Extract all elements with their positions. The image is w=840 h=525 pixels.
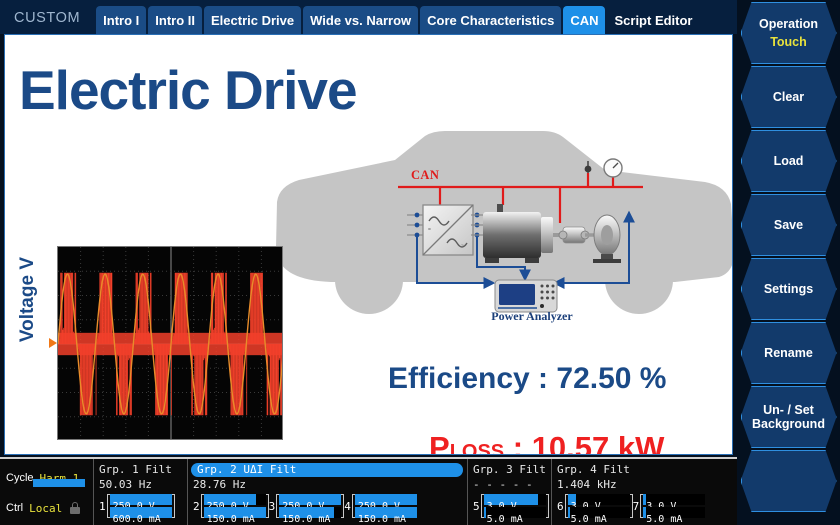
sidebar-button-rename[interactable]: Rename [741,322,837,384]
custom-page-canvas: Electric Drive [4,34,733,455]
function-key-sidebar: Operation Touch Clear Load Save Settings… [737,0,840,525]
channel-2-number: 2 [193,500,201,513]
group-3-frequency: - - - - - [473,478,547,493]
status-cycle-key: Cycle [6,472,34,484]
channel-7-current-value: 5.0 mA [643,514,682,525]
group-1-frequency: 50.03 Hz [99,478,183,493]
scope-caption: VFD Output [57,453,283,455]
status-cycle-ctrl-section: Cycle Harm 1 Ctrl Local [0,459,94,525]
channel-6-voltage-bar: 3.0 V [568,494,630,505]
channel-1-bracket-right [172,494,175,518]
sidebar-button-load-label: Load [774,154,804,168]
application-window: CUSTOM Intro I Intro II Electric Drive W… [0,0,840,525]
sidebar-button-set-background[interactable]: Un- / Set Background [741,386,837,448]
status-ctrl-key: Ctrl [6,502,23,514]
channel-7-number: 7 [633,500,641,513]
tab-core-characteristics[interactable]: Core Characteristics [420,6,561,34]
group-3-header: Grp. 3 Filt [473,463,547,477]
status-group-2-section[interactable]: Grp. 2 UΔI Filt 28.76 Hz 2 250.0 V 150.0… [188,459,468,525]
sidebar-button-save[interactable]: Save [741,194,837,256]
channel-3-bars: 250.0 V 150.0 mA [279,494,341,518]
channel-2-voltage-bar: 250.0 V [204,494,266,505]
scope-display[interactable] [57,246,283,440]
status-ctrl-row[interactable]: Ctrl Local [6,495,89,521]
sidebar-button-settings-label: Settings [764,282,813,296]
channel-7-bars: 3.0 V 5.0 mA [643,494,705,518]
ploss-subscript: LOSS [450,441,504,455]
sidebar-button-operation-value: Touch [770,35,807,49]
group-4-frequency: 1.404 kHz [557,478,718,493]
group-4-header: Grp. 4 Filt [557,463,718,477]
trigger-level-marker [49,338,57,348]
status-ctrl-value: Local [29,502,62,515]
tab-bar: CUSTOM Intro I Intro II Electric Drive W… [0,0,737,34]
channel-1-current-bar: 600.0 mA [110,507,172,518]
channel-4-voltage-bar: 250.0 V [355,494,417,505]
channel-5-current-value: 5.0 mA [484,514,523,525]
channel-7-current-bar: 5.0 mA [643,507,705,518]
group-1-channels: 1 250.0 V 600.0 mA [99,494,183,518]
channel-7-voltage-bar: 3.0 V [643,494,705,505]
sidebar-button-clear[interactable]: Clear [741,66,837,128]
sidebar-button-settings[interactable]: Settings [741,258,837,320]
vfd-output-waveform [58,247,283,440]
lock-icon [70,502,80,514]
channel-1-current-value: 600.0 mA [110,514,161,525]
sidebar-button-save-label: Save [774,218,803,232]
sidebar-button-load[interactable]: Load [741,130,837,192]
shaft-coupling-icon [559,227,597,243]
power-loss-readout: PLOSS : 10.57 kW [429,432,664,455]
group-2-frequency: 28.76 Hz [193,478,463,493]
channel-5-number: 5 [473,500,481,513]
channel-5-current-bar: 5.0 mA [484,507,546,518]
status-group-3-section[interactable]: Grp. 3 Filt - - - - - 5 3.0 V 5.0 mA [468,459,552,525]
status-group-1-section[interactable]: Grp. 1 Filt 50.03 Hz 1 250.0 V 600.0 mA [94,459,188,525]
tab-intro-ii[interactable]: Intro II [148,6,202,34]
group-1-header: Grp. 1 Filt [99,463,183,477]
tab-wide-vs-narrow[interactable]: Wide vs. Narrow [303,6,418,34]
channel-5-voltage-bar: 3.0 V [484,494,546,505]
status-cycle-row[interactable]: Cycle Harm 1 [6,465,89,491]
channel-1-bars: 250.0 V 600.0 mA [110,494,172,518]
ploss-symbol: P [429,430,450,455]
ploss-value: : 10.57 kW [504,430,664,455]
channel-4[interactable]: 4 250.0 V 150.0 mA [344,494,417,518]
inverter-block: = ~ [423,205,473,255]
channel-7[interactable]: 7 3.0 V 5.0 mA [633,494,706,518]
channel-3-current-bar: 150.0 mA [279,507,341,518]
status-cycle-bar [33,479,85,487]
electric-motor-icon [483,204,571,263]
channel-3-voltage-bar: 250.0 V [279,494,341,505]
channel-6-current-value: 5.0 mA [568,514,607,525]
channel-4-current-value: 150.0 mA [355,514,406,525]
tab-script-editor[interactable]: Script Editor [607,6,699,34]
channel-2-bars: 250.0 V 150.0 mA [204,494,266,518]
tab-electric-drive[interactable]: Electric Drive [204,6,301,34]
inverter-input-terminals [407,213,423,238]
channel-2-current-bar: 150.0 mA [204,507,266,518]
channel-3-number: 3 [269,500,277,513]
power-analyzer-label: Power Analyzer [484,309,580,324]
gauge-icon [604,159,622,177]
channel-6-number: 6 [557,500,565,513]
group-3-channels: 5 3.0 V 5.0 mA [473,494,547,518]
sidebar-button-operation[interactable]: Operation Touch [741,2,837,64]
custom-menu-label: CUSTOM [8,10,94,34]
channel-4-number: 4 [344,500,352,513]
temperature-sensor-icon [585,161,592,173]
power-analyzer-icon [495,280,557,312]
status-bar: Cycle Harm 1 Ctrl Local Grp. 1 Filt 50.0… [0,457,737,525]
scope-y-axis-label: Voltage V [17,257,45,342]
channel-6-bars: 3.0 V 5.0 mA [568,494,630,518]
channel-5-bracket-right [546,494,549,518]
tab-can[interactable]: CAN [563,6,605,34]
tab-intro-i[interactable]: Intro I [96,6,146,34]
efficiency-readout: Efficiency : 72.50 % [388,362,666,396]
svg-text:~: ~ [461,243,464,249]
channel-1-number: 1 [99,500,107,513]
group-2-channels: 2 250.0 V 150.0 mA 3 250.0 V 150.0 mA [193,494,463,518]
status-group-4-section[interactable]: Grp. 4 Filt 1.404 kHz 6 3.0 V 5.0 mA 7 [552,459,722,525]
can-bus-label: CAN [411,168,439,183]
channel-6[interactable]: 6 3.0 V 5.0 mA [557,494,633,518]
channel-4-bars: 250.0 V 150.0 mA [355,494,417,518]
group-2-header: Grp. 2 UΔI Filt [191,463,463,477]
page-title: Electric Drive [19,63,357,118]
channel-6-current-bar: 5.0 mA [568,507,630,518]
channel-2-current-value: 150.0 mA [204,514,255,525]
channel-5[interactable]: 5 3.0 V 5.0 mA [473,494,549,518]
sidebar-button-rename-label: Rename [764,346,813,360]
svg-text:=: = [428,227,431,233]
channel-3-current-value: 150.0 mA [279,514,330,525]
sidebar-button-set-background-label: Un- / Set Background [742,403,836,432]
channel-2[interactable]: 2 250.0 V 150.0 mA [193,494,269,518]
sidebar-button-empty[interactable] [741,450,837,512]
channel-5-bars: 3.0 V 5.0 mA [484,494,546,518]
group-4-channels: 6 3.0 V 5.0 mA 7 3.0 V 5.0 mA [557,494,718,518]
channel-4-current-bar: 150.0 mA [355,507,417,518]
channel-3[interactable]: 3 250.0 V 150.0 mA [269,494,345,518]
channel-1[interactable]: 1 250.0 V 600.0 mA [99,494,175,518]
dynamometer-icon [593,215,621,263]
sidebar-button-operation-label: Operation [759,17,818,31]
sidebar-button-clear-label: Clear [773,90,804,104]
channel-1-voltage-bar: 250.0 V [110,494,172,505]
